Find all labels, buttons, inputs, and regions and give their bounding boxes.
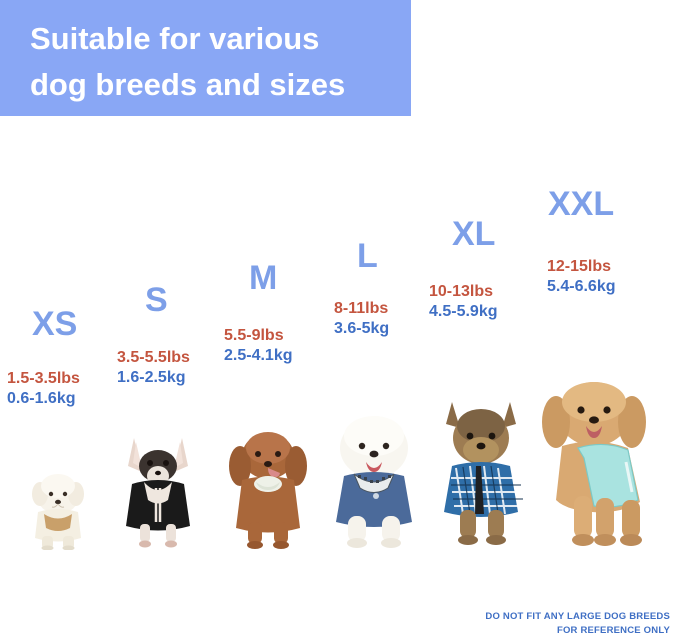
size-label-xl: XL [452,217,495,251]
size-weight-lbs-s: 3.5-5.5lbs [117,348,190,368]
dog-photo-s [116,432,200,550]
size-label-s: S [145,283,168,317]
size-weights-xxl: 12-15lbs 5.4-6.6kg [547,257,615,297]
dog-photo-xl [432,398,530,550]
banner-heading: Suitable for various dog breeds and size… [30,16,400,108]
size-label-m: M [249,261,277,295]
dog-photo-l [318,410,430,550]
size-weight-kg-m: 2.5-4.1kg [224,346,292,366]
size-weight-kg-s: 1.6-2.5kg [117,368,190,388]
size-chart-page: Suitable for various dog breeds and size… [0,0,679,642]
size-weight-lbs-l: 8-11lbs [334,299,389,319]
size-weight-lbs-xl: 10-13lbs [429,282,497,302]
banner-heading-line-1: Suitable for various [30,16,400,62]
dog-photo-m [222,422,314,550]
size-weight-lbs-xs: 1.5-3.5lbs [7,369,80,389]
size-label-xs: XS [32,307,77,341]
header-banner: Suitable for various dog breeds and size… [0,0,411,116]
size-weights-xl: 10-13lbs 4.5-5.9kg [429,282,497,322]
size-weight-kg-l: 3.6-5kg [334,319,389,339]
size-weight-kg-xxl: 5.4-6.6kg [547,277,615,297]
dog-photo-row [0,400,679,550]
size-weight-lbs-m: 5.5-9lbs [224,326,292,346]
disclaimer-line-2: FOR REFERENCE ONLY [485,624,670,638]
size-weights-l: 8-11lbs 3.6-5kg [334,299,389,339]
banner-heading-line-2: dog breeds and sizes [30,62,400,108]
size-weights-m: 5.5-9lbs 2.5-4.1kg [224,326,292,366]
size-weight-lbs-xxl: 12-15lbs [547,257,615,277]
dog-photo-xs [22,460,94,550]
dog-photo-xxl [534,378,662,550]
size-weight-kg-xl: 4.5-5.9kg [429,302,497,322]
disclaimer-line-1: DO NOT FIT ANY LARGE DOG BREEDS [485,610,670,624]
size-weights-s: 3.5-5.5lbs 1.6-2.5kg [117,348,190,388]
size-label-l: L [357,239,378,273]
disclaimer-text: DO NOT FIT ANY LARGE DOG BREEDS FOR REFE… [485,610,670,638]
size-label-xxl: XXL [548,187,614,221]
